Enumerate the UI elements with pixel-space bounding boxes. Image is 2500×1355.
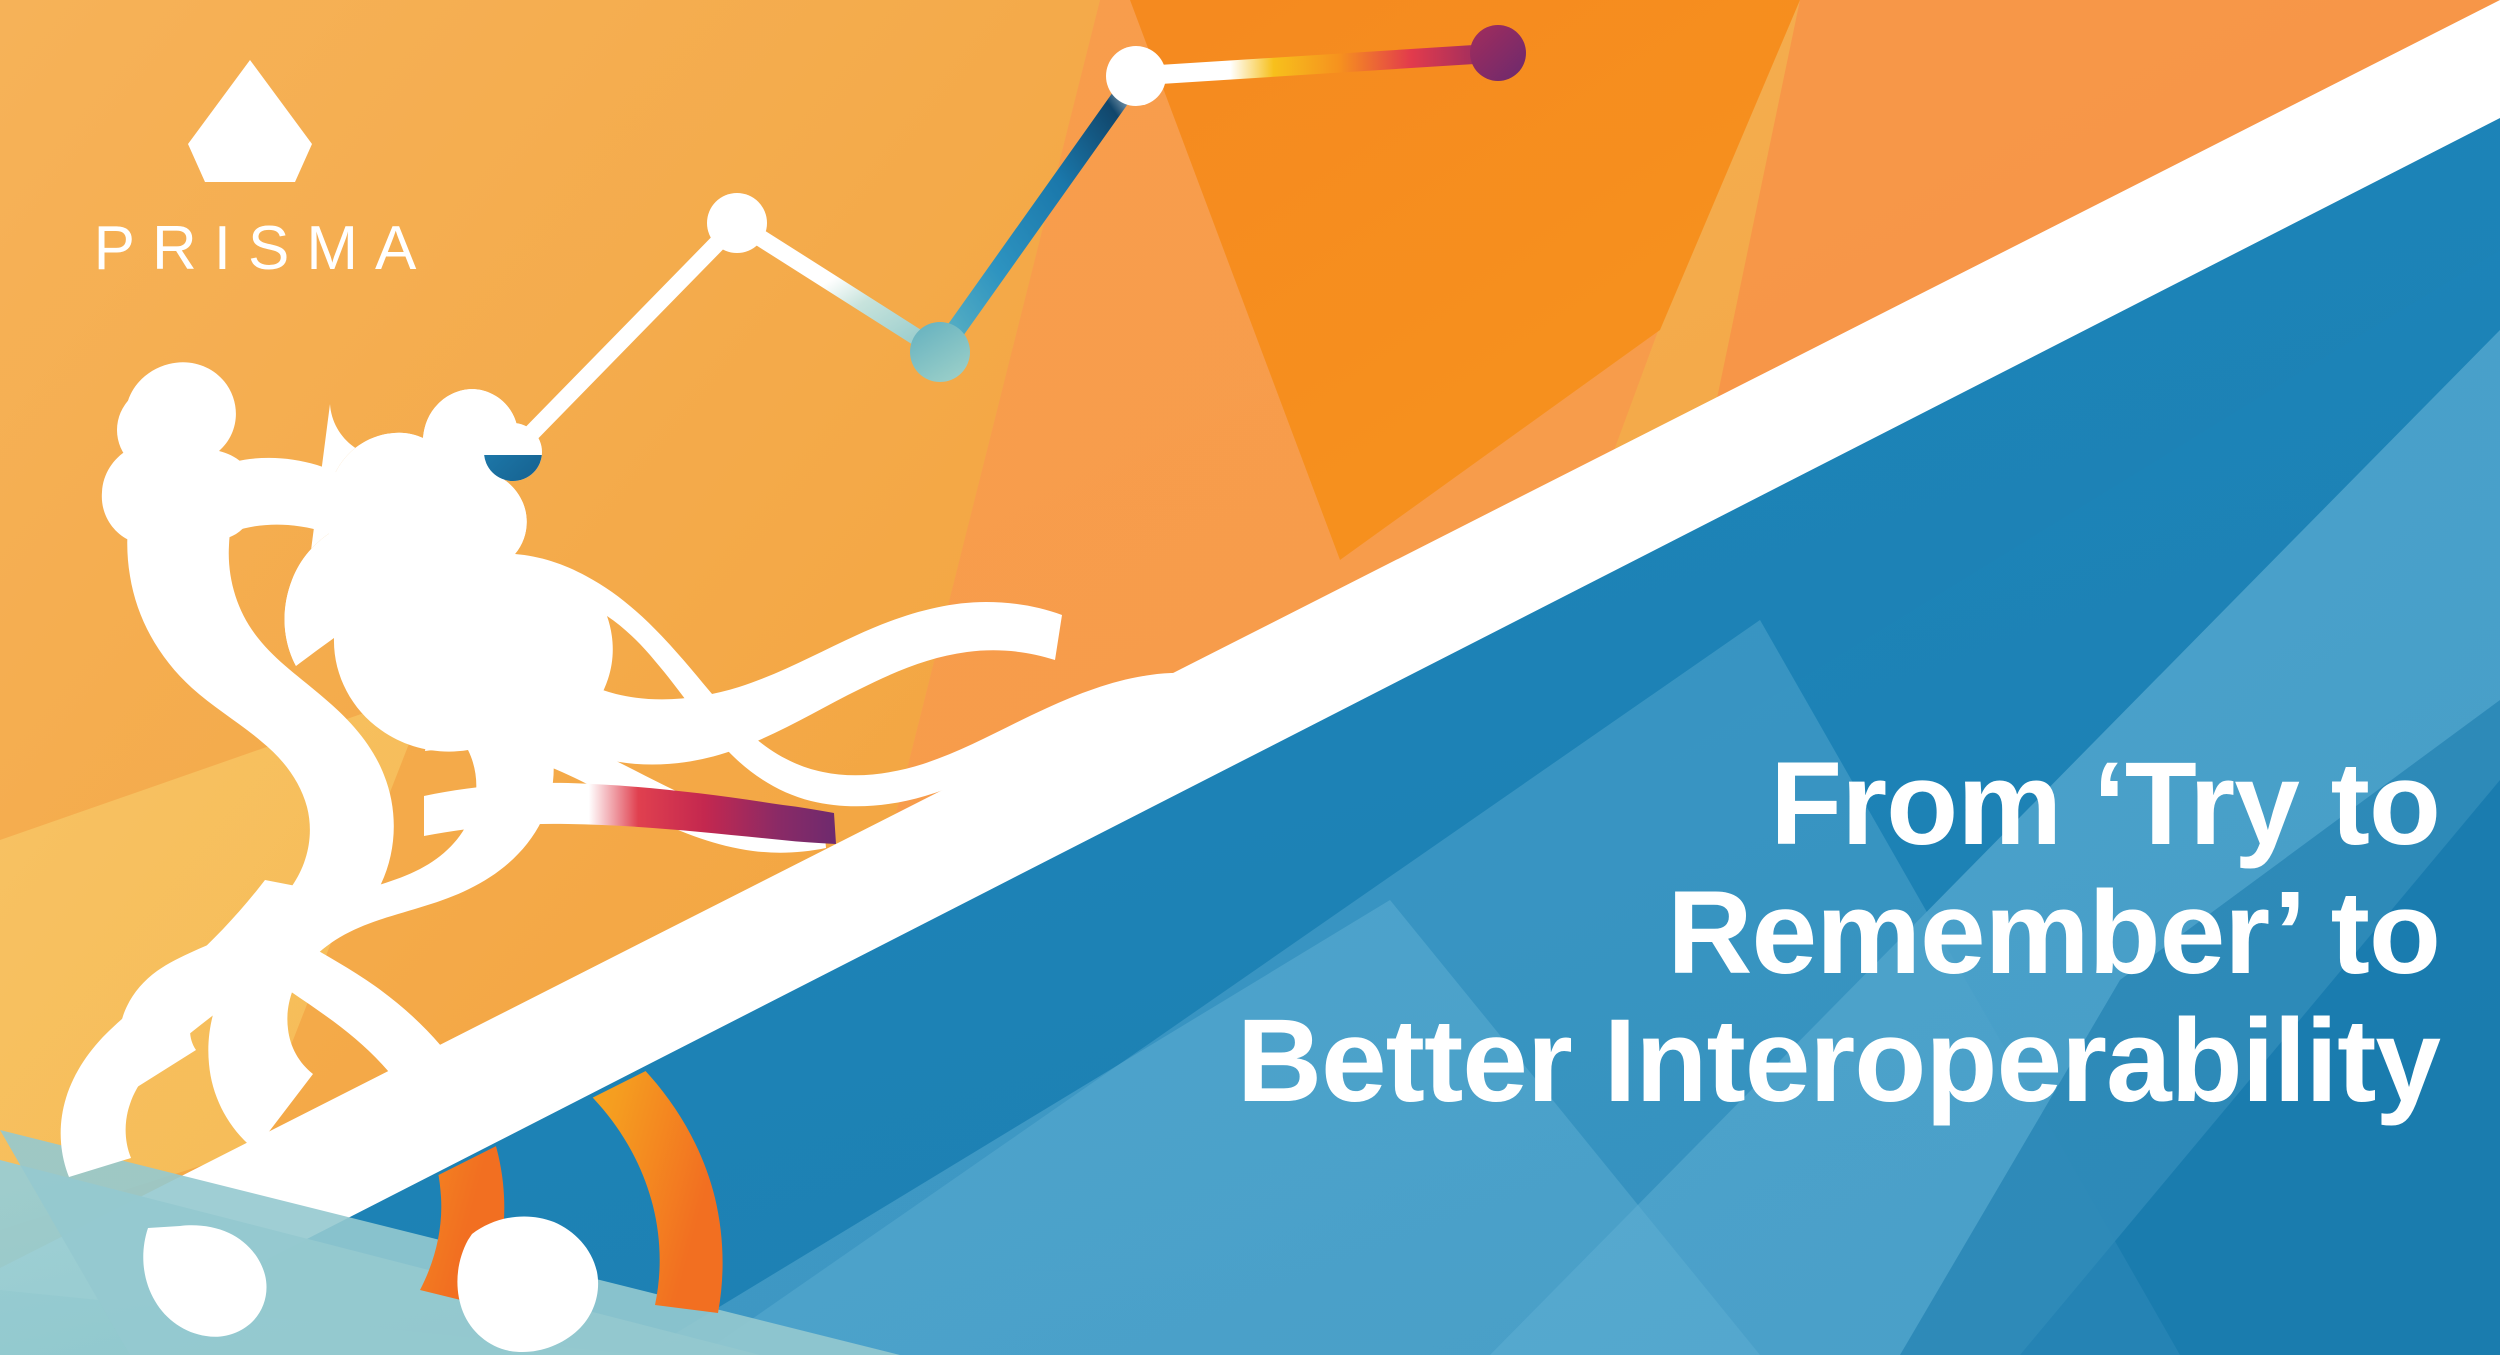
headline-line-3: Better Interoperability xyxy=(640,997,2440,1126)
page-title: From ‘Try to Remember’ to Better Interop… xyxy=(640,740,2440,1126)
chart-segment-2 xyxy=(737,223,940,352)
marketing-banner: PRISMA From ‘Try to Remember’ to Better … xyxy=(0,0,2500,1355)
chart-marker-4 xyxy=(1106,46,1166,106)
chart-marker-2 xyxy=(707,193,767,253)
chart-marker-1 xyxy=(484,423,542,481)
line-chart xyxy=(0,0,2500,1355)
headline-line-2: Remember’ to xyxy=(640,869,2440,998)
headline-line-1: From ‘Try to xyxy=(640,740,2440,869)
chart-segment-3 xyxy=(940,76,1136,352)
chart-marker-3 xyxy=(910,322,970,382)
chart-segment-4 xyxy=(1136,53,1498,76)
chart-segment-1 xyxy=(513,223,737,452)
chart-marker-5 xyxy=(1470,25,1526,81)
